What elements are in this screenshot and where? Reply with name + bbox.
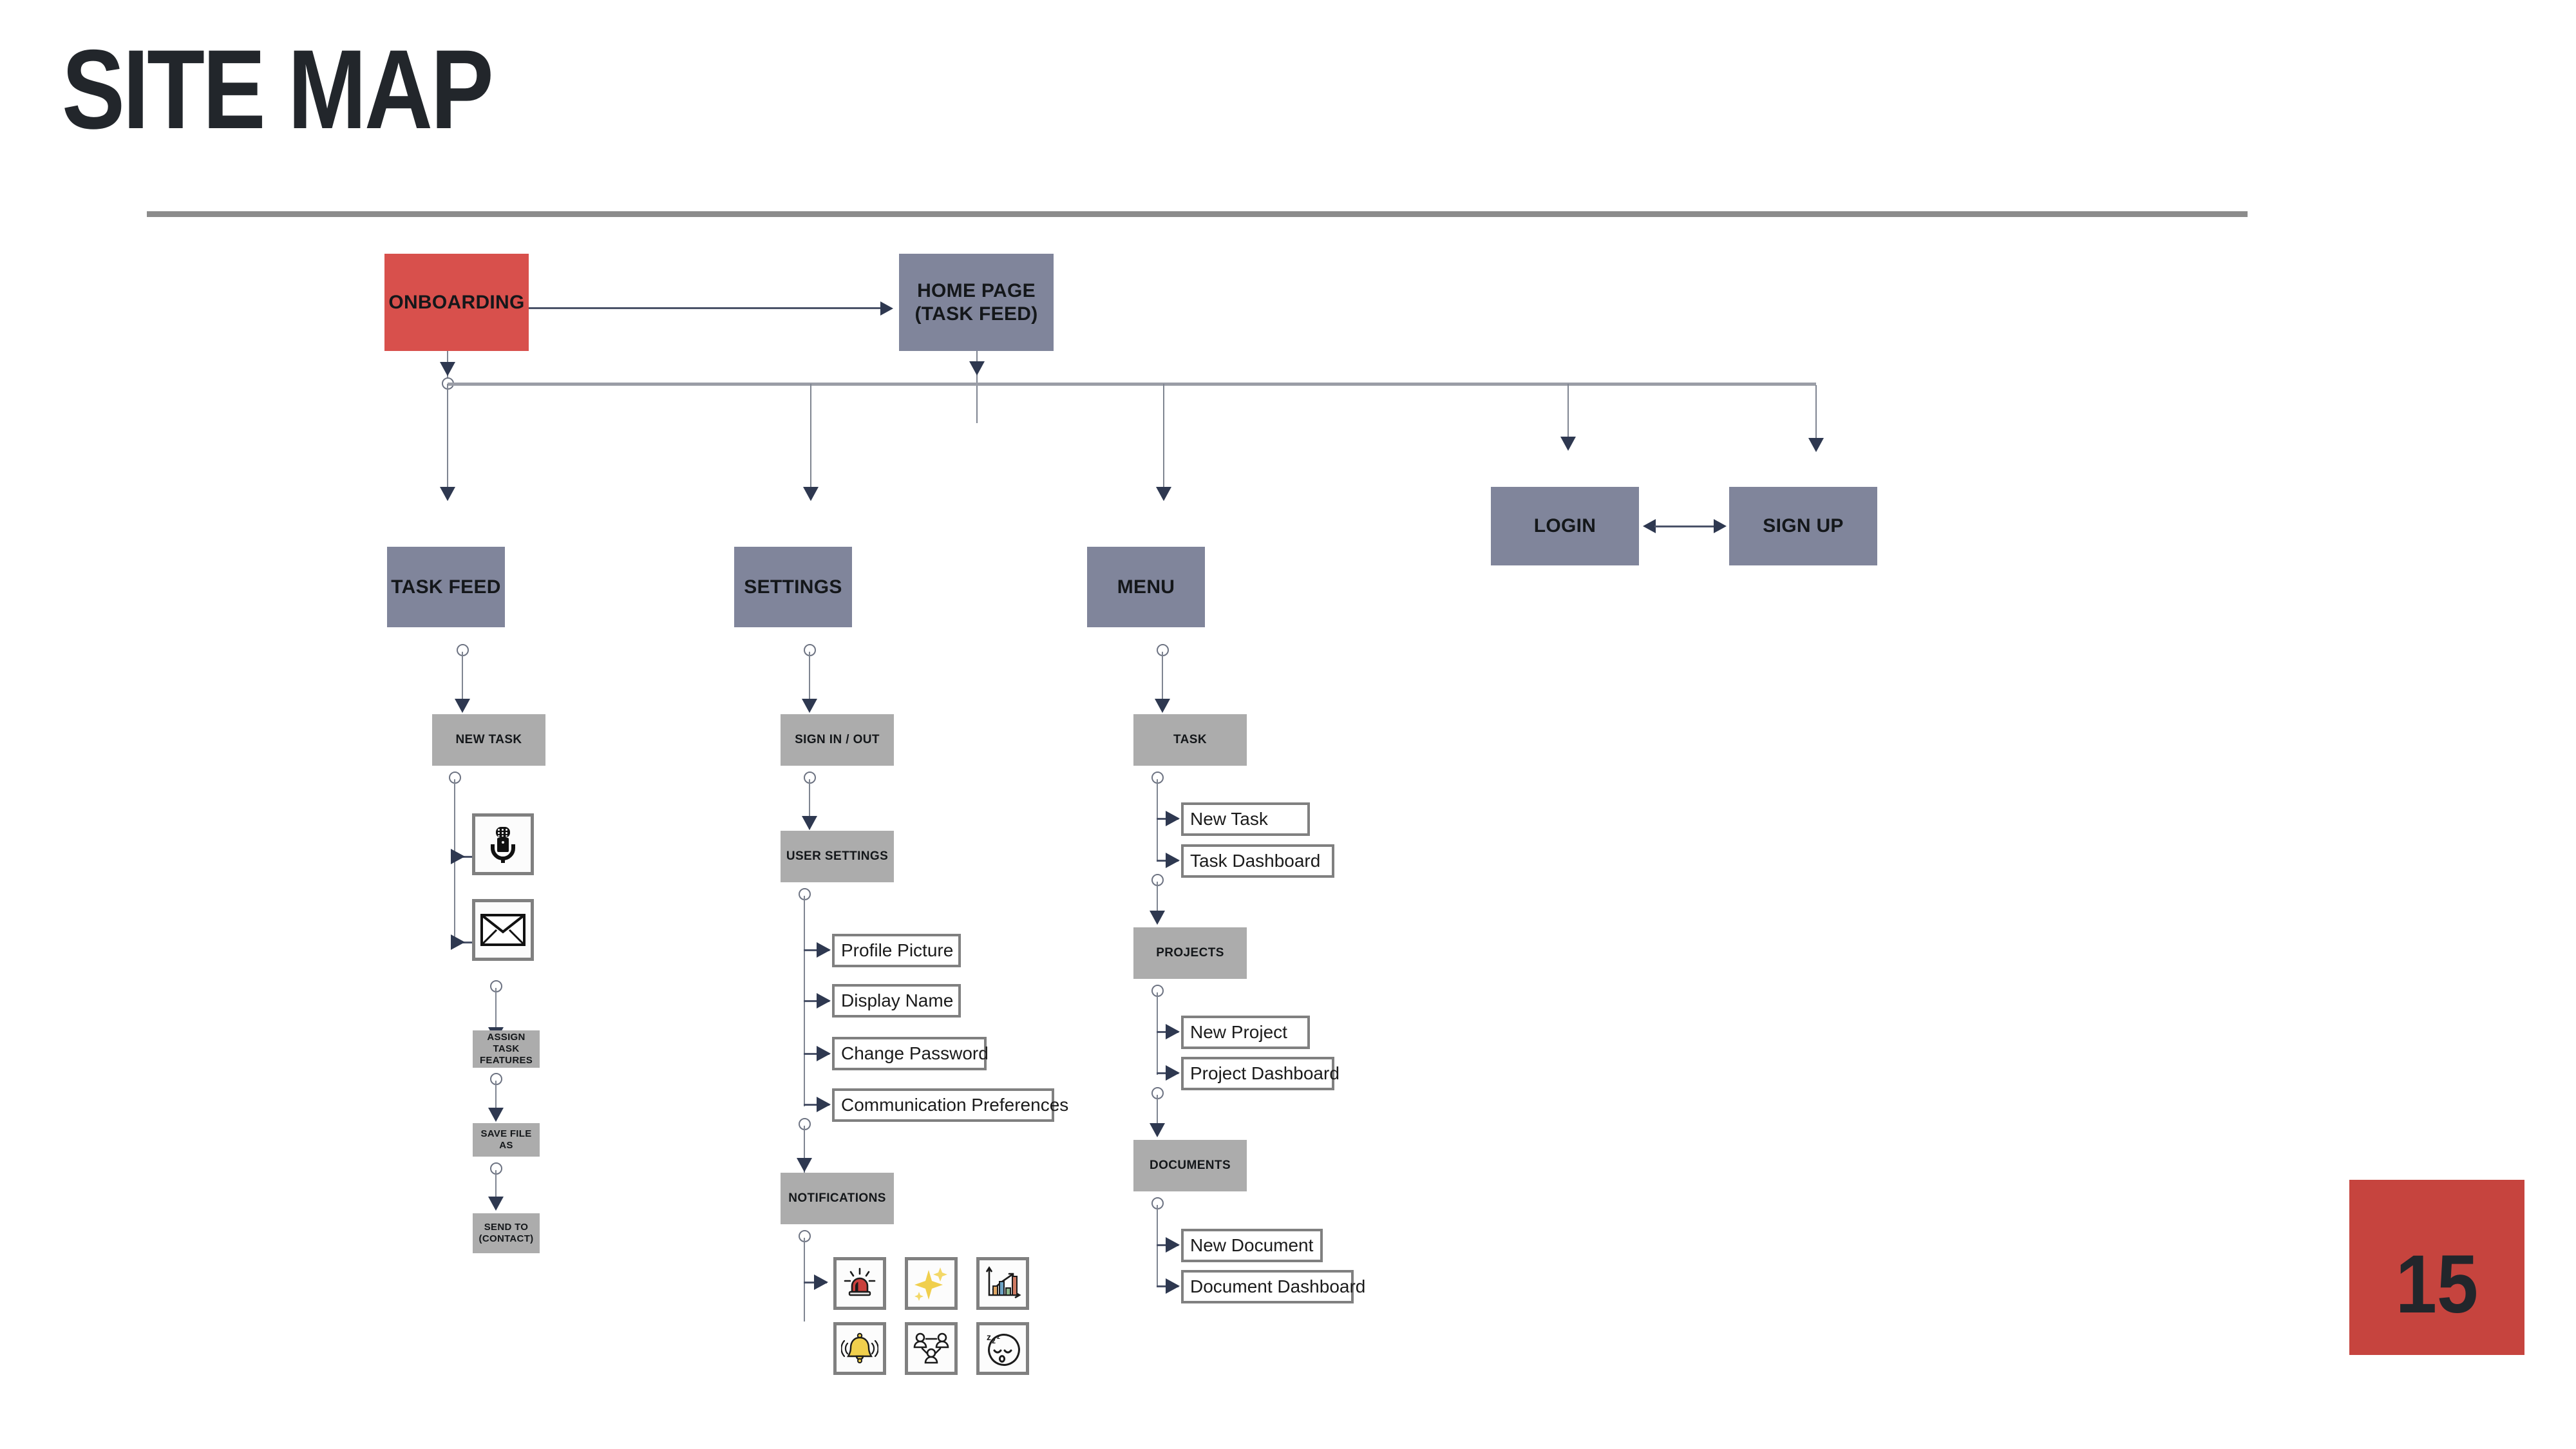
node-send-to-contact[interactable]: SEND TO (CONTACT)	[473, 1213, 540, 1253]
arrow-to-settings	[803, 487, 819, 501]
arrow-to-documents	[1150, 1123, 1165, 1137]
leaf-communication-preferences[interactable]: Communication Preferences	[832, 1088, 1054, 1122]
arrow-login-signup-left	[1643, 519, 1656, 533]
connector-projects-spine	[1157, 992, 1158, 1075]
node-login[interactable]: LOGIN	[1491, 487, 1639, 565]
arrow-to-signup	[1808, 438, 1824, 452]
tile-sparkles[interactable]	[905, 1257, 958, 1310]
branch-drop-task-feed	[447, 384, 448, 500]
branch-drop-menu	[1163, 384, 1164, 500]
tile-microphone[interactable]	[472, 813, 534, 875]
arrow-to-profile-picture	[817, 942, 831, 958]
node-new-task[interactable]: NEW TASK	[432, 714, 545, 766]
people-network-icon	[913, 1331, 950, 1366]
arrow-to-user-settings	[802, 816, 817, 830]
arrow-to-new-task-leaf	[1166, 811, 1180, 826]
ringing-bell-icon	[841, 1331, 878, 1367]
arrow-onboarding-to-home	[880, 301, 893, 316]
connector-documents-spine	[1157, 1205, 1158, 1287]
bar-chart-icon	[984, 1266, 1021, 1301]
node-onboarding[interactable]: ONBOARDING	[384, 254, 529, 351]
leaf-profile-picture[interactable]: Profile Picture	[832, 934, 961, 967]
node-home-page[interactable]: HOME PAGE (TASK FEED)	[899, 254, 1054, 351]
tile-bar-chart[interactable]	[976, 1257, 1029, 1310]
leaf-change-password[interactable]: Change Password	[832, 1037, 987, 1070]
microphone-icon	[485, 824, 521, 865]
arrow-settings-to-sign-in	[802, 699, 817, 713]
arrow-to-communication-preferences	[817, 1097, 831, 1112]
envelope-icon	[480, 913, 526, 947]
leaf-display-name[interactable]: Display Name	[832, 984, 961, 1018]
node-documents[interactable]: DOCUMENTS	[1133, 1140, 1247, 1191]
arrow-to-menu	[1156, 487, 1171, 501]
page-number-badge: 15	[2349, 1180, 2524, 1355]
arrow-onboarding-down	[440, 362, 455, 376]
arrow-to-save-file	[488, 1108, 504, 1122]
arrow-to-notification-tiles	[814, 1274, 828, 1290]
connector-task-spine	[1157, 779, 1158, 862]
arrow-to-notifications	[797, 1158, 812, 1172]
slide-canvas: SITE MAP 15 ONBOARDING HOME PAGE (TASK F…	[0, 0, 2576, 1449]
sparkles-icon	[913, 1265, 950, 1302]
svg-text:z: z	[992, 1336, 996, 1345]
node-save-file-as[interactable]: SAVE FILE AS	[473, 1123, 540, 1157]
title-divider	[147, 211, 2248, 217]
arrow-to-new-project-leaf	[1166, 1024, 1180, 1039]
tile-siren[interactable]	[833, 1257, 886, 1310]
arrow-to-display-name	[817, 993, 831, 1009]
connector-login-signup	[1654, 526, 1719, 527]
arrow-to-new-document-leaf	[1166, 1237, 1180, 1253]
tile-envelope[interactable]	[472, 899, 534, 961]
arrow-to-envelope-tile	[451, 934, 465, 950]
node-user-settings[interactable]: USER SETTINGS	[781, 831, 894, 882]
node-sign-up[interactable]: SIGN UP	[1729, 487, 1877, 565]
node-settings[interactable]: SETTINGS	[734, 547, 852, 627]
svg-text:z: z	[987, 1332, 991, 1342]
leaf-new-document[interactable]: New Document	[1181, 1229, 1323, 1262]
leaf-new-task[interactable]: New Task	[1181, 802, 1310, 836]
node-menu[interactable]: MENU	[1087, 547, 1205, 627]
page-title: SITE MAP	[62, 33, 491, 146]
svg-text:z: z	[997, 1334, 1000, 1341]
trunk-bar	[448, 383, 1816, 386]
node-notifications[interactable]: NOTIFICATIONS	[781, 1173, 894, 1224]
arrow-task-feed-to-new-task	[455, 699, 470, 713]
node-task-feed[interactable]: TASK FEED	[387, 547, 505, 627]
arrow-to-login	[1560, 437, 1576, 451]
leaf-new-project[interactable]: New Project	[1181, 1016, 1310, 1049]
arrow-to-projects	[1150, 911, 1165, 925]
arrow-to-send-to	[488, 1197, 504, 1211]
arrow-login-signup-right	[1714, 519, 1727, 533]
branch-drop-settings	[810, 384, 811, 500]
arrow-to-change-password	[817, 1046, 831, 1061]
tile-sleeping-face[interactable]: z z z	[976, 1322, 1029, 1375]
node-assign-task-features[interactable]: ASSIGN TASK FEATURES	[473, 1030, 540, 1068]
connector-onboarding-to-home	[529, 307, 880, 309]
node-task[interactable]: TASK	[1133, 714, 1247, 766]
connector-notifications-spine	[804, 1238, 805, 1321]
leaf-task-dashboard[interactable]: Task Dashboard	[1181, 844, 1334, 878]
page-number: 15	[2358, 1237, 2516, 1332]
siren-icon	[842, 1267, 878, 1300]
arrow-to-task-feed	[440, 487, 455, 501]
node-sign-in-out[interactable]: SIGN IN / OUT	[781, 714, 894, 766]
tile-ringing-bell[interactable]	[833, 1322, 886, 1375]
arrow-to-project-dashboard-leaf	[1166, 1065, 1180, 1081]
leaf-project-dashboard[interactable]: Project Dashboard	[1181, 1057, 1334, 1090]
tile-people-network[interactable]	[905, 1322, 958, 1375]
arrow-to-document-dashboard-leaf	[1166, 1278, 1180, 1294]
sleeping-face-icon: z z z	[983, 1331, 1022, 1366]
leaf-document-dashboard[interactable]: Document Dashboard	[1181, 1270, 1354, 1303]
arrow-home-down	[969, 361, 985, 375]
node-projects[interactable]: PROJECTS	[1133, 927, 1247, 979]
arrow-to-mic-tile	[451, 849, 465, 864]
arrow-menu-to-task	[1155, 699, 1170, 713]
arrow-to-task-dashboard-leaf	[1166, 853, 1180, 868]
